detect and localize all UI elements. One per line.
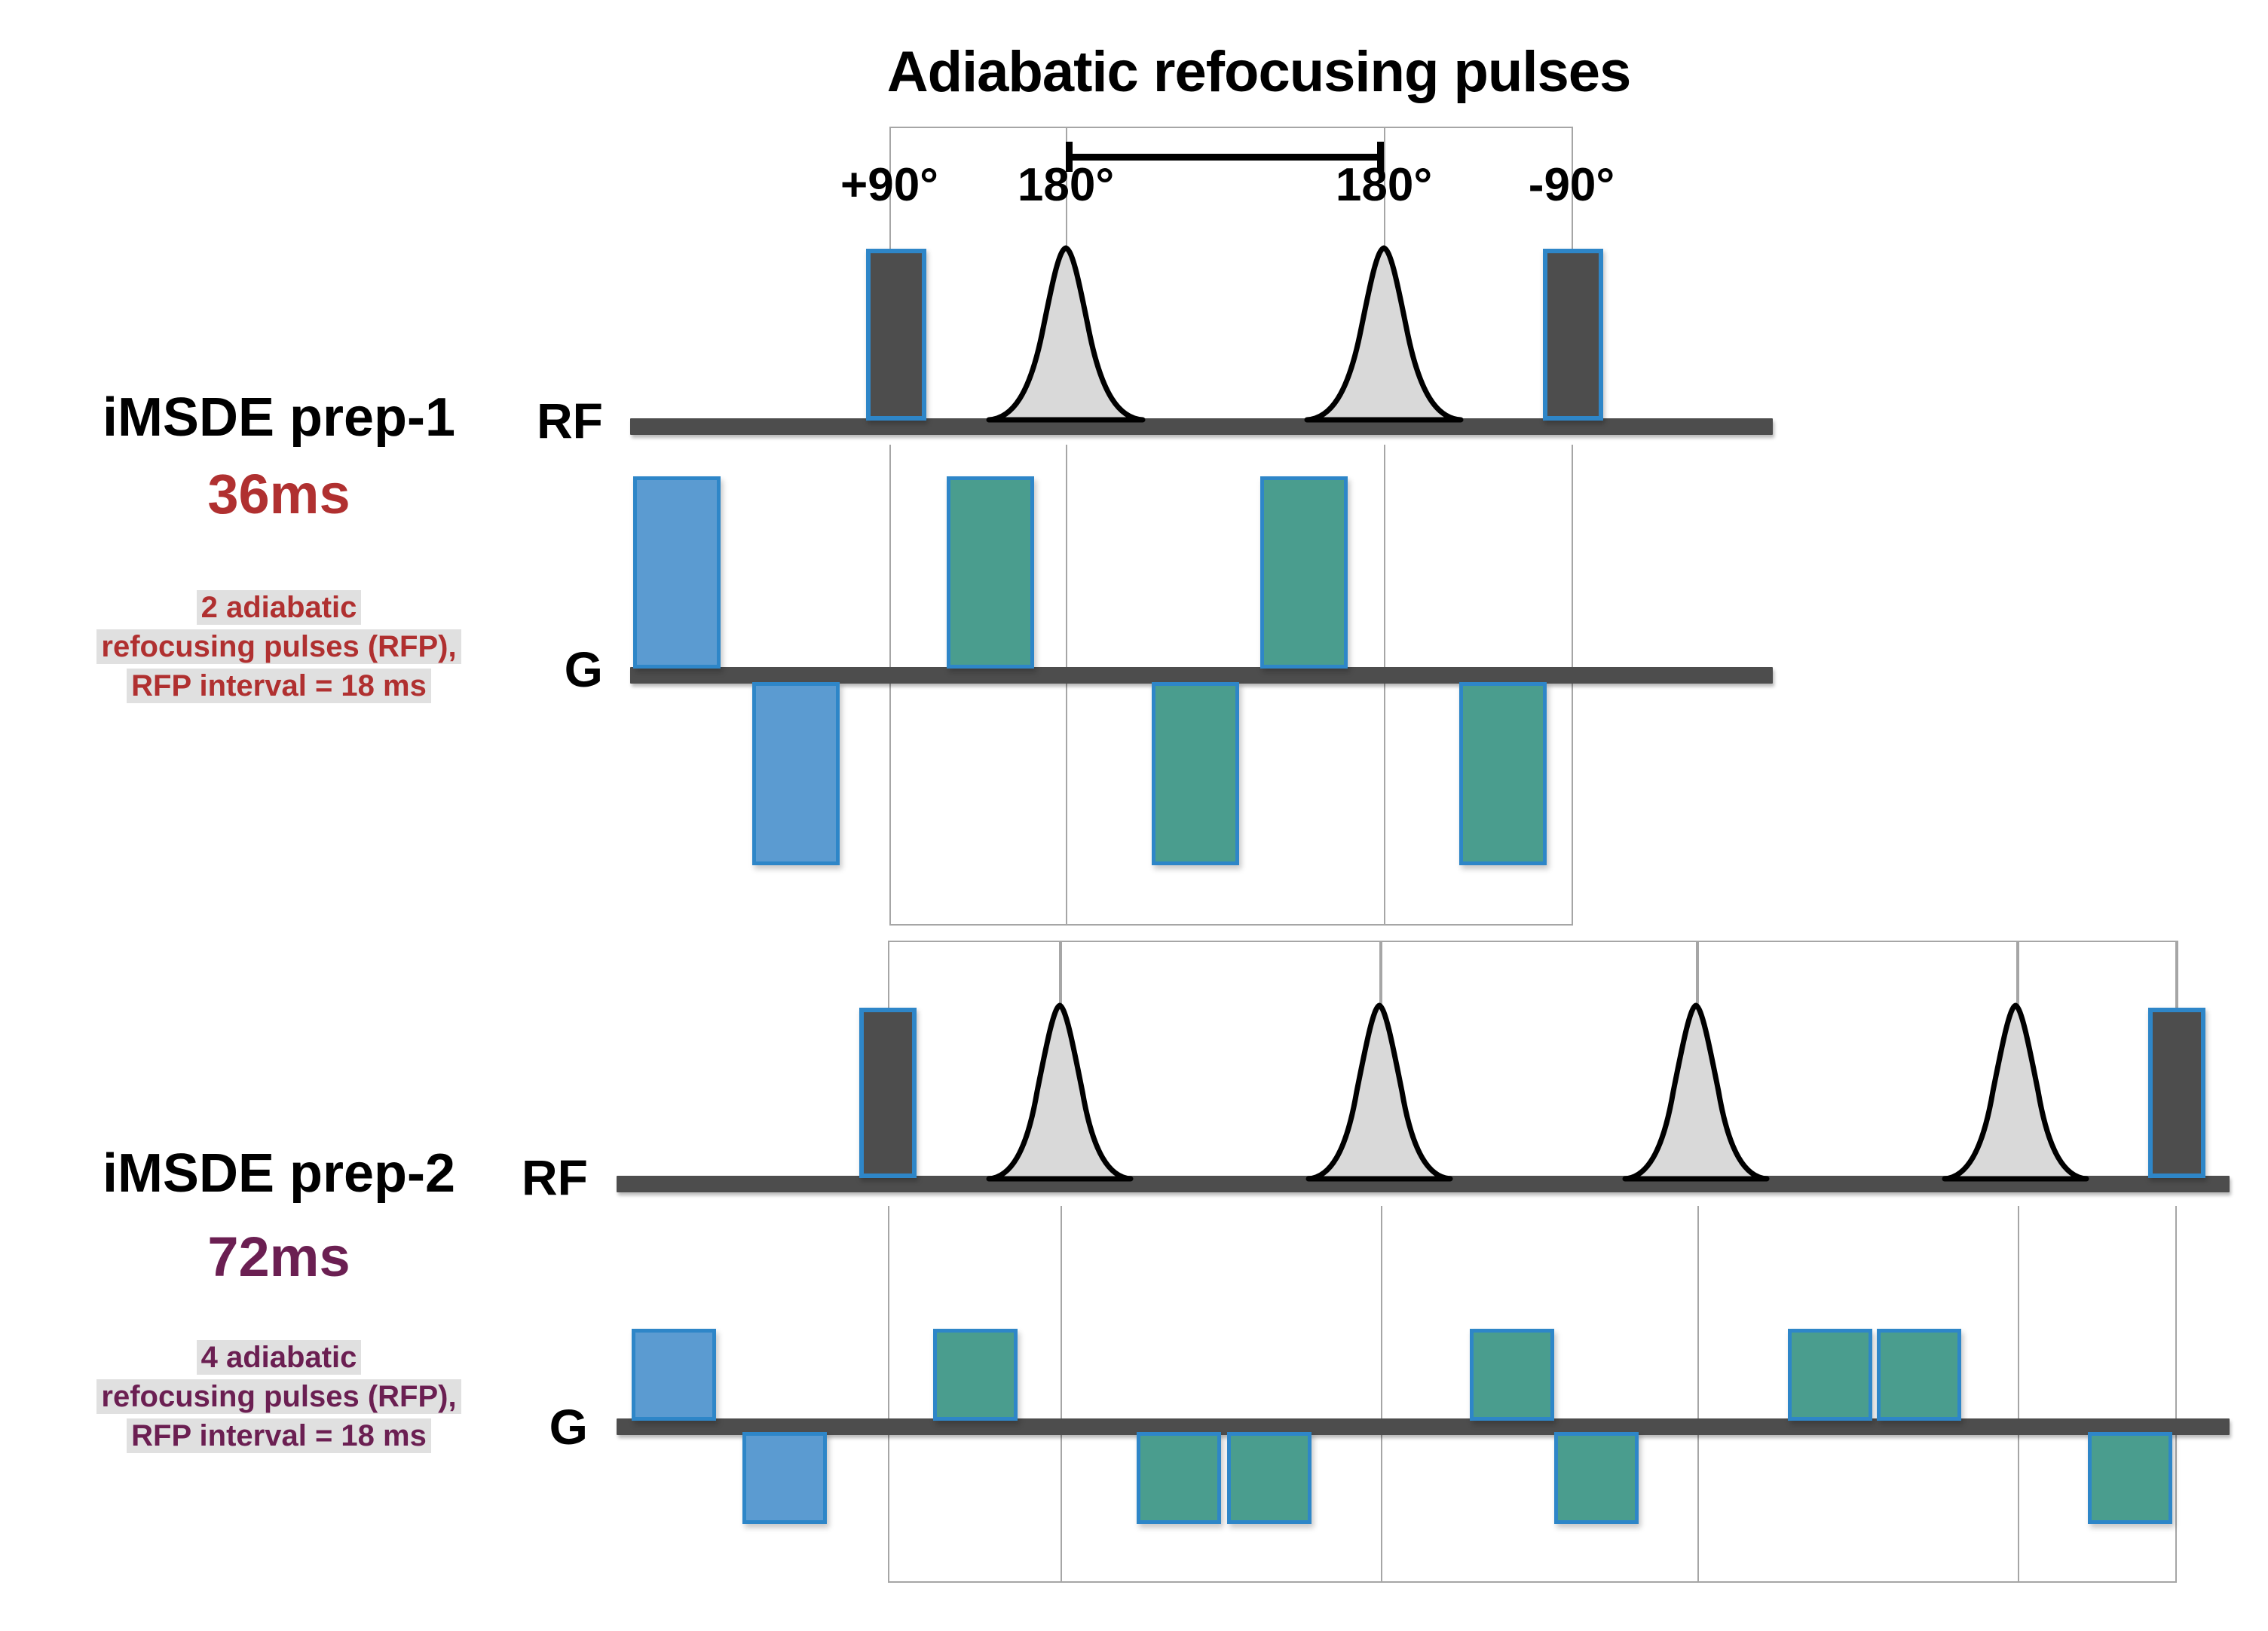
gradient-lobe — [742, 1432, 827, 1524]
pulse-label-minus90: -90° — [1481, 158, 1662, 212]
leader-line — [1059, 941, 1061, 1008]
gridline — [1066, 445, 1067, 924]
gradient-lobe — [752, 682, 840, 865]
page-title: Adiabatic refocusing pulses — [814, 39, 1703, 105]
gradient-lobe — [633, 476, 721, 669]
prep1-g-baseline — [630, 667, 1773, 684]
rf-pulse-180-a — [987, 245, 1144, 421]
gradient-lobe — [1227, 1432, 1312, 1524]
gradient-lobe — [947, 476, 1034, 669]
prep2-duration: 72ms — [23, 1225, 535, 1289]
pulse-label-180-b: 180° — [1293, 158, 1474, 212]
gradient-lobe — [632, 1329, 716, 1421]
leader-line — [1379, 941, 1381, 1008]
prep1-note-line-2: refocusing pulses (RFP), — [96, 629, 461, 664]
gradient-lobe — [1877, 1329, 1961, 1421]
prep2-rf-axis-label: RF — [452, 1149, 588, 1206]
rf-pulse-180-2 — [1307, 1002, 1452, 1180]
pulse-sequence-diagram: Adiabatic refocusing pulses +90° 180° 18… — [0, 0, 2268, 1631]
prep1-note-line-3: RFP interval = 18 ms — [127, 669, 431, 703]
gradient-lobe — [1137, 1432, 1221, 1524]
prep1-name: iMSDE prep-1 — [30, 387, 528, 448]
gridline — [1381, 1206, 1382, 1581]
prep2-note-line-3: RFP interval = 18 ms — [127, 1418, 431, 1453]
gradient-lobe — [1554, 1432, 1639, 1524]
rf-pulse-plus90 — [859, 1008, 917, 1178]
rf-pulse-plus90 — [866, 249, 926, 421]
prep1-note-line-1: 2 adiabatic — [197, 590, 362, 625]
prep1-g-axis-label: G — [467, 641, 603, 698]
pulse-label-180-a: 180° — [975, 158, 1156, 212]
gradient-lobe — [1152, 682, 1239, 865]
prep1-duration: 36ms — [30, 462, 528, 526]
prep2-g-baseline — [617, 1418, 2230, 1435]
gradient-lobe — [1459, 682, 1547, 865]
leader-line — [1696, 941, 1697, 1008]
gradient-lobe — [933, 1329, 1018, 1421]
rf-pulse-180-3 — [1624, 1002, 1768, 1180]
gridline — [1384, 445, 1385, 924]
rf-pulse-minus90 — [1543, 249, 1603, 421]
rf-pulse-minus90 — [2148, 1008, 2205, 1178]
prep1-rf-baseline — [630, 418, 1773, 435]
rf-pulse-180-4 — [1943, 1002, 2088, 1180]
prep2-g-axis-label: G — [452, 1398, 588, 1455]
rf-pulse-180-b — [1305, 245, 1462, 421]
gradient-lobe — [1788, 1329, 1872, 1421]
leader-line — [888, 941, 889, 1008]
gradient-lobe — [2088, 1432, 2172, 1524]
prep2-note-line-2: refocusing pulses (RFP), — [96, 1379, 461, 1414]
pulse-label-plus90: +90° — [799, 158, 980, 212]
leader-line — [2177, 941, 2178, 1008]
gridline — [1061, 1206, 1062, 1581]
gradient-lobe — [1260, 476, 1348, 669]
leader-line — [2016, 941, 2018, 1008]
gradient-lobe — [1470, 1329, 1554, 1421]
prep1-note: 2 adiabatic refocusing pulses (RFP), RFP… — [23, 588, 535, 705]
prep1-rf-axis-label: RF — [467, 392, 603, 449]
gridline — [1697, 1206, 1699, 1581]
rf-pulse-180-1 — [987, 1002, 1132, 1180]
gridline — [2018, 1206, 2019, 1581]
prep2-note-line-1: 4 adiabatic — [197, 1340, 362, 1375]
